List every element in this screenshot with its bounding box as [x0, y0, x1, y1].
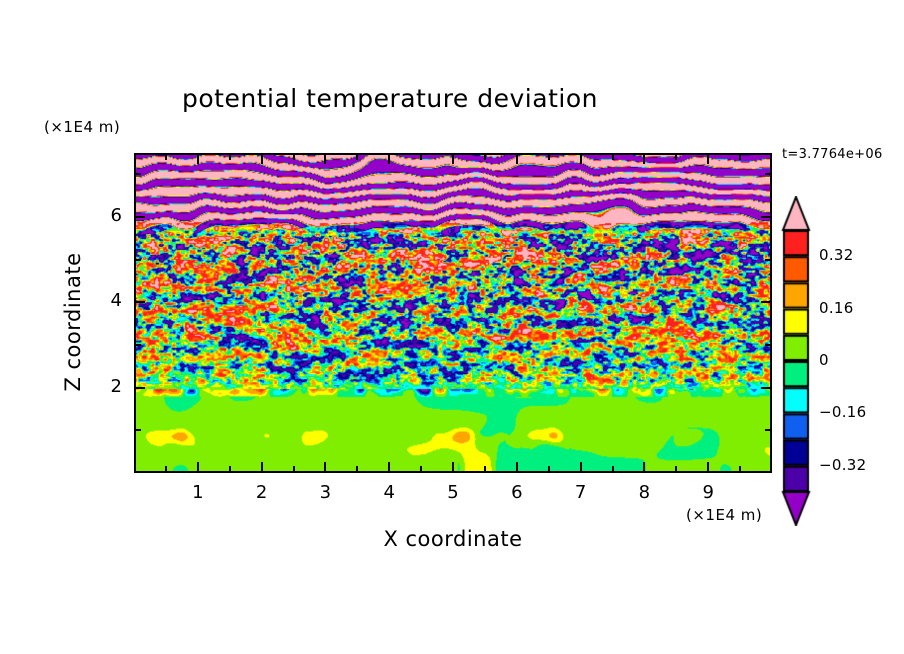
y-tick-right [765, 344, 770, 346]
y-tick-right [761, 387, 770, 389]
x-tick [707, 462, 709, 471]
y-tick [136, 216, 145, 218]
x-tick-top [229, 155, 231, 160]
y-tick [136, 387, 145, 389]
colorbar-tick-label: −0.32 [819, 456, 866, 474]
colorbar-tick-label: 0.16 [819, 299, 854, 317]
y-tick-label: 6 [82, 205, 122, 226]
x-tick-label: 7 [561, 482, 601, 503]
x-tick [580, 462, 582, 471]
x-tick-top [484, 155, 486, 160]
x-tick-top [293, 155, 295, 160]
x-tick [356, 466, 358, 471]
x-tick [612, 466, 614, 471]
z-axis-unit-label: (×1E4 m) [44, 118, 120, 136]
colorbar-gradient [781, 196, 811, 526]
x-tick [484, 466, 486, 471]
x-tick-top [388, 155, 390, 164]
colorbar-tick-label: −0.16 [819, 403, 866, 421]
x-tick [261, 462, 263, 471]
x-tick [229, 466, 231, 471]
y-tick [136, 344, 141, 346]
y-tick [136, 259, 141, 261]
x-tick-label: 5 [433, 482, 473, 503]
figure-canvas: potential temperature deviation (×1E4 m)… [0, 0, 904, 654]
y-tick [136, 173, 141, 175]
x-tick-top [612, 155, 614, 160]
y-tick-right [761, 301, 770, 303]
x-tick [293, 466, 295, 471]
x-tick [324, 462, 326, 471]
x-tick-top [739, 155, 741, 160]
x-tick-label: 9 [688, 482, 728, 503]
colorbar-tick-label: 0 [819, 351, 829, 369]
x-tick [165, 466, 167, 471]
x-tick-top [324, 155, 326, 164]
x-tick [420, 466, 422, 471]
x-tick-top [675, 155, 677, 160]
x-tick-top [516, 155, 518, 164]
y-tick-right [761, 216, 770, 218]
x-tick-label: 4 [369, 482, 409, 503]
y-tick-right [765, 173, 770, 175]
x-tick-top [643, 155, 645, 164]
timestamp-annotation: t=3.7764e+06 [782, 147, 883, 162]
x-axis-unit-label: (×1E4 m) [686, 506, 762, 524]
y-tick-right [765, 429, 770, 431]
y-tick-label: 2 [82, 376, 122, 397]
x-tick-top [165, 155, 167, 160]
x-tick [548, 466, 550, 471]
x-tick-top [548, 155, 550, 160]
y-tick [136, 429, 141, 431]
x-tick-top [356, 155, 358, 160]
x-tick-top [580, 155, 582, 164]
x-tick [643, 462, 645, 471]
x-axis-title: X coordinate [134, 527, 772, 551]
colorbar [781, 196, 811, 526]
contour-plot-area [134, 153, 772, 473]
y-axis-title: Z coordinate [61, 222, 85, 422]
x-tick-top [420, 155, 422, 160]
x-tick-label: 2 [242, 482, 282, 503]
y-tick-right [765, 259, 770, 261]
x-tick [675, 466, 677, 471]
x-tick-label: 1 [178, 482, 218, 503]
colorbar-tick-label: 0.32 [819, 246, 854, 264]
x-tick-label: 8 [624, 482, 664, 503]
x-tick-top [707, 155, 709, 164]
temperature-deviation-field [136, 155, 770, 471]
x-tick-label: 6 [497, 482, 537, 503]
x-tick-top [452, 155, 454, 164]
page-title: potential temperature deviation [0, 84, 780, 113]
x-tick-top [197, 155, 199, 164]
y-tick [136, 301, 145, 303]
x-tick-top [261, 155, 263, 164]
x-tick [516, 462, 518, 471]
x-tick [197, 462, 199, 471]
x-tick-label: 3 [305, 482, 345, 503]
x-tick [388, 462, 390, 471]
x-tick [452, 462, 454, 471]
x-tick [739, 466, 741, 471]
y-tick-label: 4 [82, 290, 122, 311]
